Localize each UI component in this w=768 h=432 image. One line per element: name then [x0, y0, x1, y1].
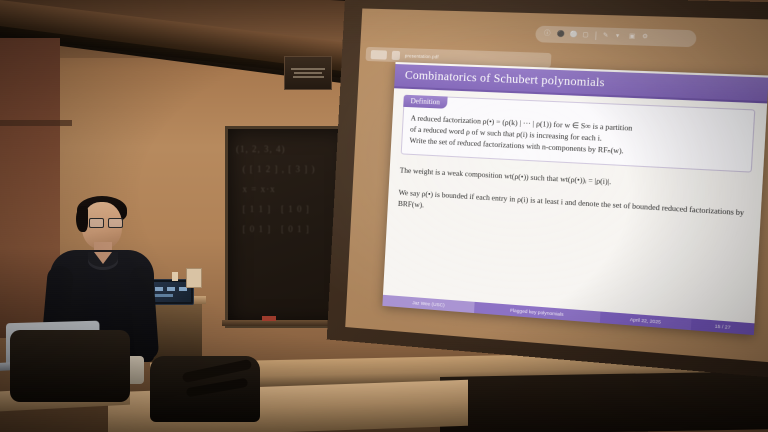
pen-icon[interactable]: ✎: [603, 33, 610, 39]
pdf-filename: presentation.pdf: [405, 53, 439, 59]
definition-block: Definition A reduced factorization ρ(•) …: [401, 95, 756, 173]
glasses-icon: [89, 218, 123, 226]
eraser: [262, 316, 276, 321]
chair-left: [10, 330, 130, 402]
projection-screen: ⓘ ⚫ ⚪ ▢ ✎ ▾ ▣ ⚙ presentation.pdf Combina…: [327, 0, 768, 379]
footer-date: April 22, 2025: [600, 311, 692, 330]
zoom-in-icon[interactable]: ⚪: [569, 32, 576, 38]
wall-outlet: [186, 268, 202, 288]
info-icon[interactable]: ⓘ: [544, 31, 551, 37]
definition-text: A reduced factorization ρ(•) = (ρ(k) | ·…: [409, 112, 745, 162]
slide-body: Definition A reduced factorization ρ(•) …: [394, 95, 756, 311]
pdf-icon: [371, 50, 388, 60]
pdf-toolbar[interactable]: ⓘ ⚫ ⚪ ▢ ✎ ▾ ▣ ⚙: [535, 26, 697, 48]
placard-line: [293, 76, 324, 78]
zoom-out-icon[interactable]: ⚫: [557, 31, 564, 37]
bounded-paragraph: We say ρ(•) is bounded if each entry in …: [398, 186, 750, 231]
chevron-down-icon[interactable]: ▾: [616, 33, 623, 39]
settings-icon[interactable]: ⚙: [642, 34, 649, 41]
wall-placard: [284, 56, 332, 90]
placard-line: [291, 68, 325, 70]
screenshot-root: (1, 2, 3, 4) ( [ 1 2 ] , [ 3 ] ) x = x·x…: [0, 0, 768, 432]
crop-icon[interactable]: ▣: [629, 34, 636, 41]
footer-author: Jaz Wee (USC): [382, 295, 475, 313]
slide-title: Combinatorics of Schubert polynomials: [395, 69, 606, 89]
presenter-right-arm: [129, 265, 159, 360]
tab-favicon: [392, 50, 401, 59]
front-desk-dark: [440, 371, 768, 432]
wall-trim: [0, 120, 72, 126]
footer-page-number: 15 / 27: [691, 319, 754, 336]
light-switch[interactable]: [172, 272, 178, 281]
presenter-hair-side: [76, 206, 88, 232]
footer-topic: Flagged key polynomials: [475, 302, 601, 323]
slide: Combinatorics of Schubert polynomials De…: [382, 62, 768, 335]
placard-line: [294, 72, 322, 74]
definition-label: Definition: [403, 95, 447, 109]
toolbar-divider: [595, 32, 597, 40]
screen-surface: ⓘ ⚫ ⚪ ▢ ✎ ▾ ▣ ⚙ presentation.pdf Combina…: [345, 8, 768, 363]
fit-page-icon[interactable]: ▢: [582, 32, 589, 38]
